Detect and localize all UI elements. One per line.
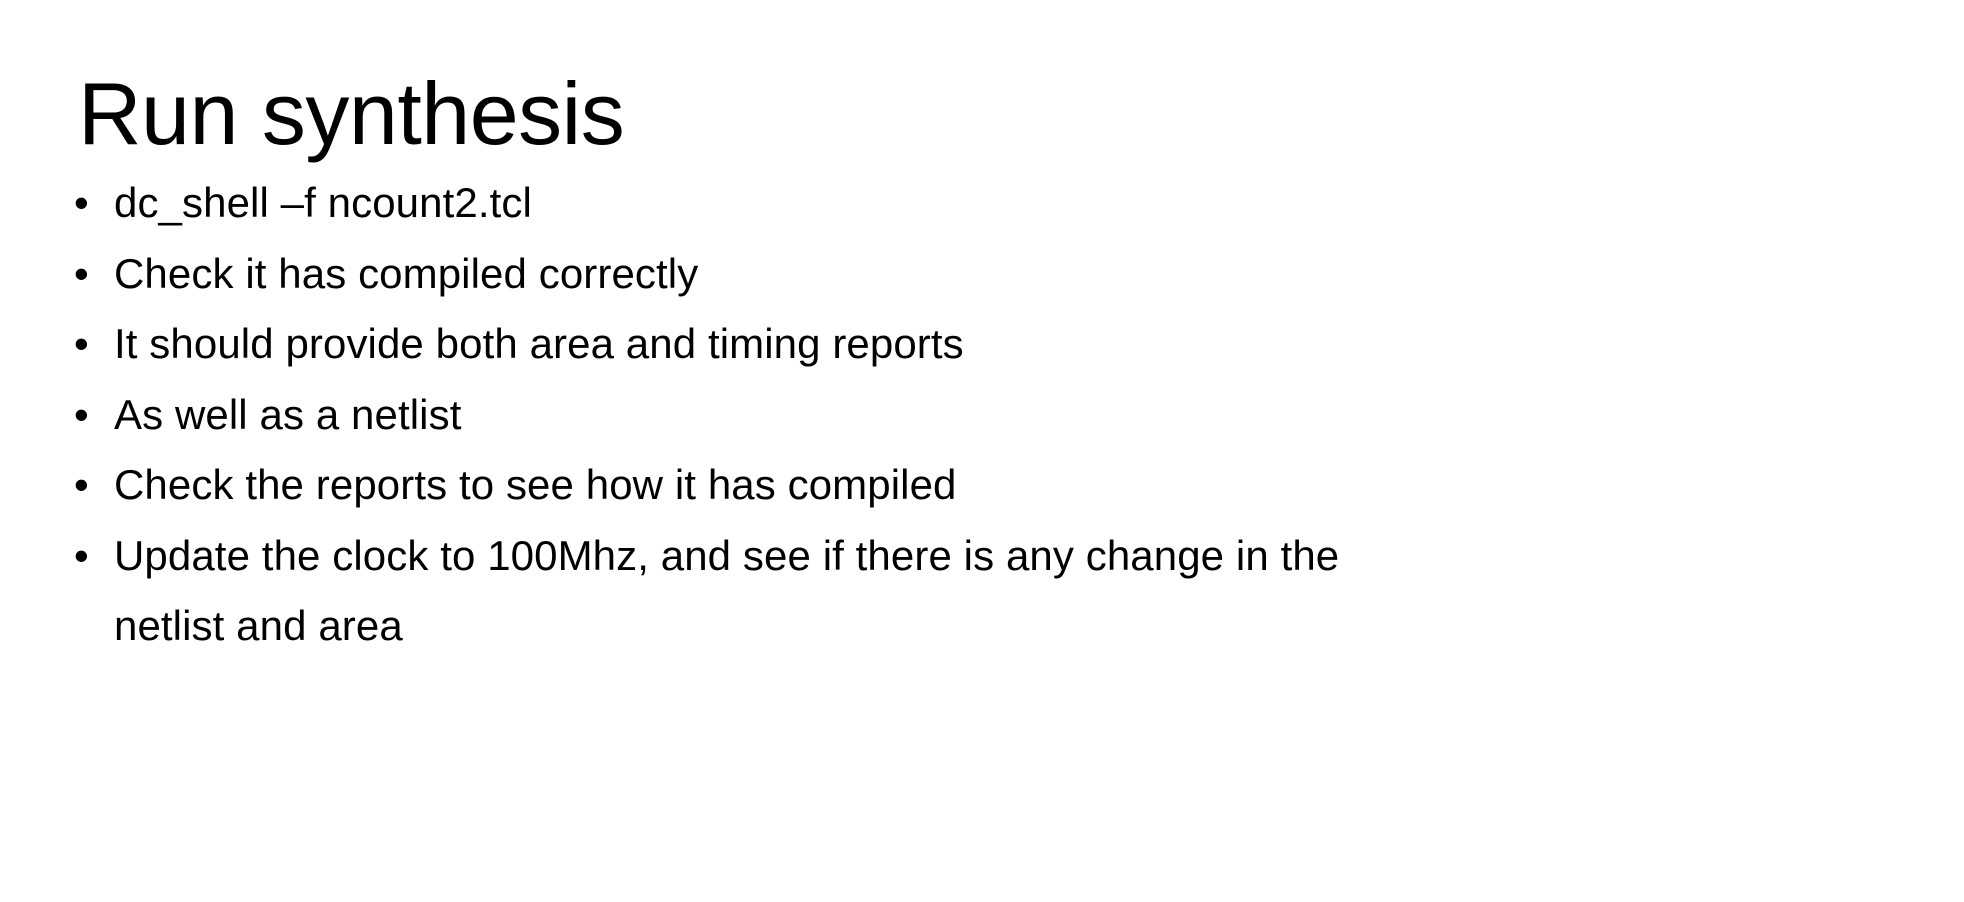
list-item[interactable]: • Update the clock to 100Mhz, and see if… <box>74 521 1874 662</box>
list-item-label: Check it has compiled correctly <box>114 239 1459 310</box>
bullet-point-icon: • <box>74 168 114 239</box>
list-item[interactable]: • Check it has compiled correctly <box>74 239 1874 310</box>
list-item-label: As well as a netlist <box>114 380 1459 451</box>
list-item[interactable]: • Check the reports to see how it has co… <box>74 450 1874 521</box>
bullet-point-icon: • <box>74 309 114 380</box>
list-item-label: Check the reports to see how it has comp… <box>114 450 1459 521</box>
list-item-label: dc_shell –f ncount2.tcl <box>114 168 1459 239</box>
bullet-point-icon: • <box>74 239 114 310</box>
bullet-list: • dc_shell –f ncount2.tcl • Check it has… <box>74 168 1874 662</box>
page-title: Run synthesis <box>78 63 1878 164</box>
bullet-point-icon: • <box>74 521 114 592</box>
presentation-slide: Run synthesis • dc_shell –f ncount2.tcl … <box>0 0 1964 902</box>
list-item[interactable]: • dc_shell –f ncount2.tcl <box>74 168 1874 239</box>
list-item-label: It should provide both area and timing r… <box>114 309 1459 380</box>
list-item[interactable]: • It should provide both area and timing… <box>74 309 1874 380</box>
list-item-label: Update the clock to 100Mhz, and see if t… <box>114 521 1459 662</box>
list-item[interactable]: • As well as a netlist <box>74 380 1874 451</box>
bullet-point-icon: • <box>74 450 114 521</box>
bullet-point-icon: • <box>74 380 114 451</box>
